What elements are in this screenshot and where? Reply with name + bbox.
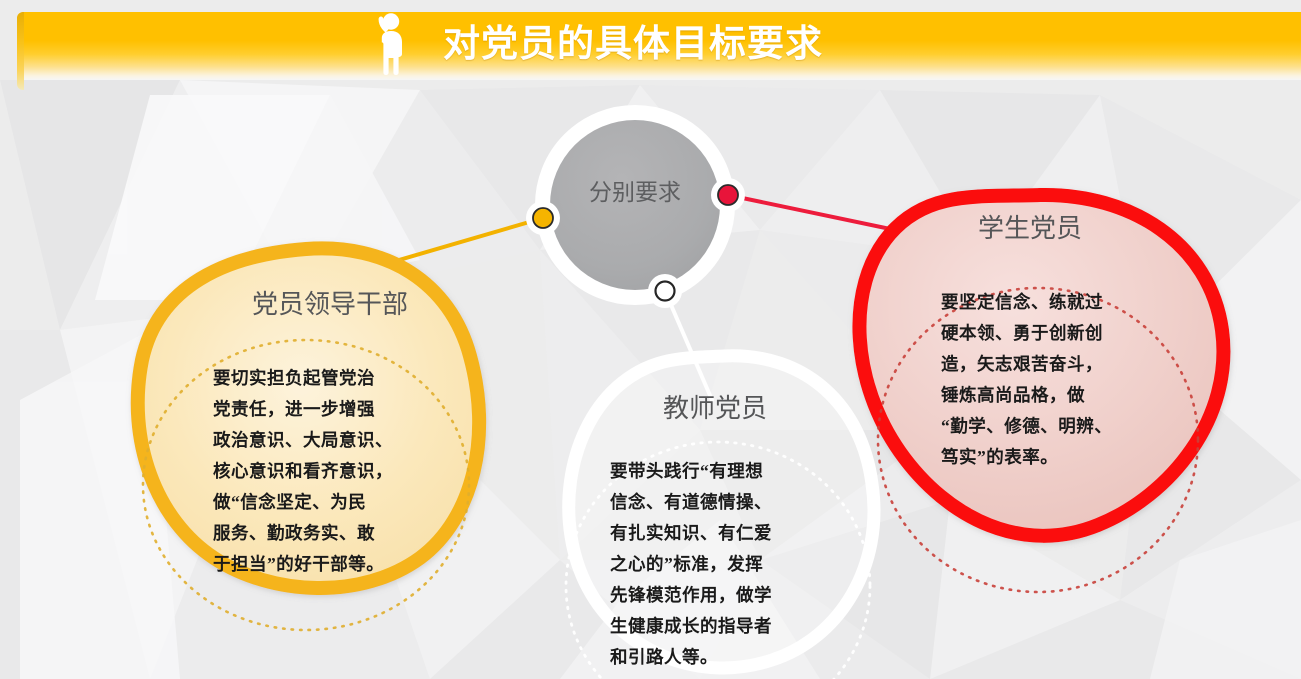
person-standing-icon (365, 10, 415, 76)
header-left-tab (17, 12, 24, 90)
node-yellow-title: 党员领导干部 (185, 284, 475, 321)
connector-dot-white[interactable] (656, 282, 675, 301)
node-white-title: 教师党员 (570, 388, 860, 425)
page-title: 对党员的具体目标要求 (443, 16, 823, 72)
node-white-body: 要带头践行“有理想 信念、有道德情操、 有扎实知识、有仁爱 之心的”标准，发挥 … (610, 456, 834, 673)
node-red-body: 要坚定信念、练就过 硬本领、勇于创新创 造，矢志艰苦奋斗， 锤炼高尚品格，做 “… (941, 287, 1156, 473)
connector-dot-yellow[interactable] (533, 208, 553, 228)
slide-canvas: 对党员的具体目标要求 分别要求 党员领导干部 要切实担负起管党治 党责任，进一步… (0, 0, 1301, 679)
node-red-title: 学生党员 (905, 208, 1155, 245)
center-node-label: 分别要求 (545, 173, 725, 207)
node-yellow-body: 要切实担负起管党治 党责任，进一步增强 政治意识、大局意识、 核心意识和看齐意识… (213, 363, 445, 580)
